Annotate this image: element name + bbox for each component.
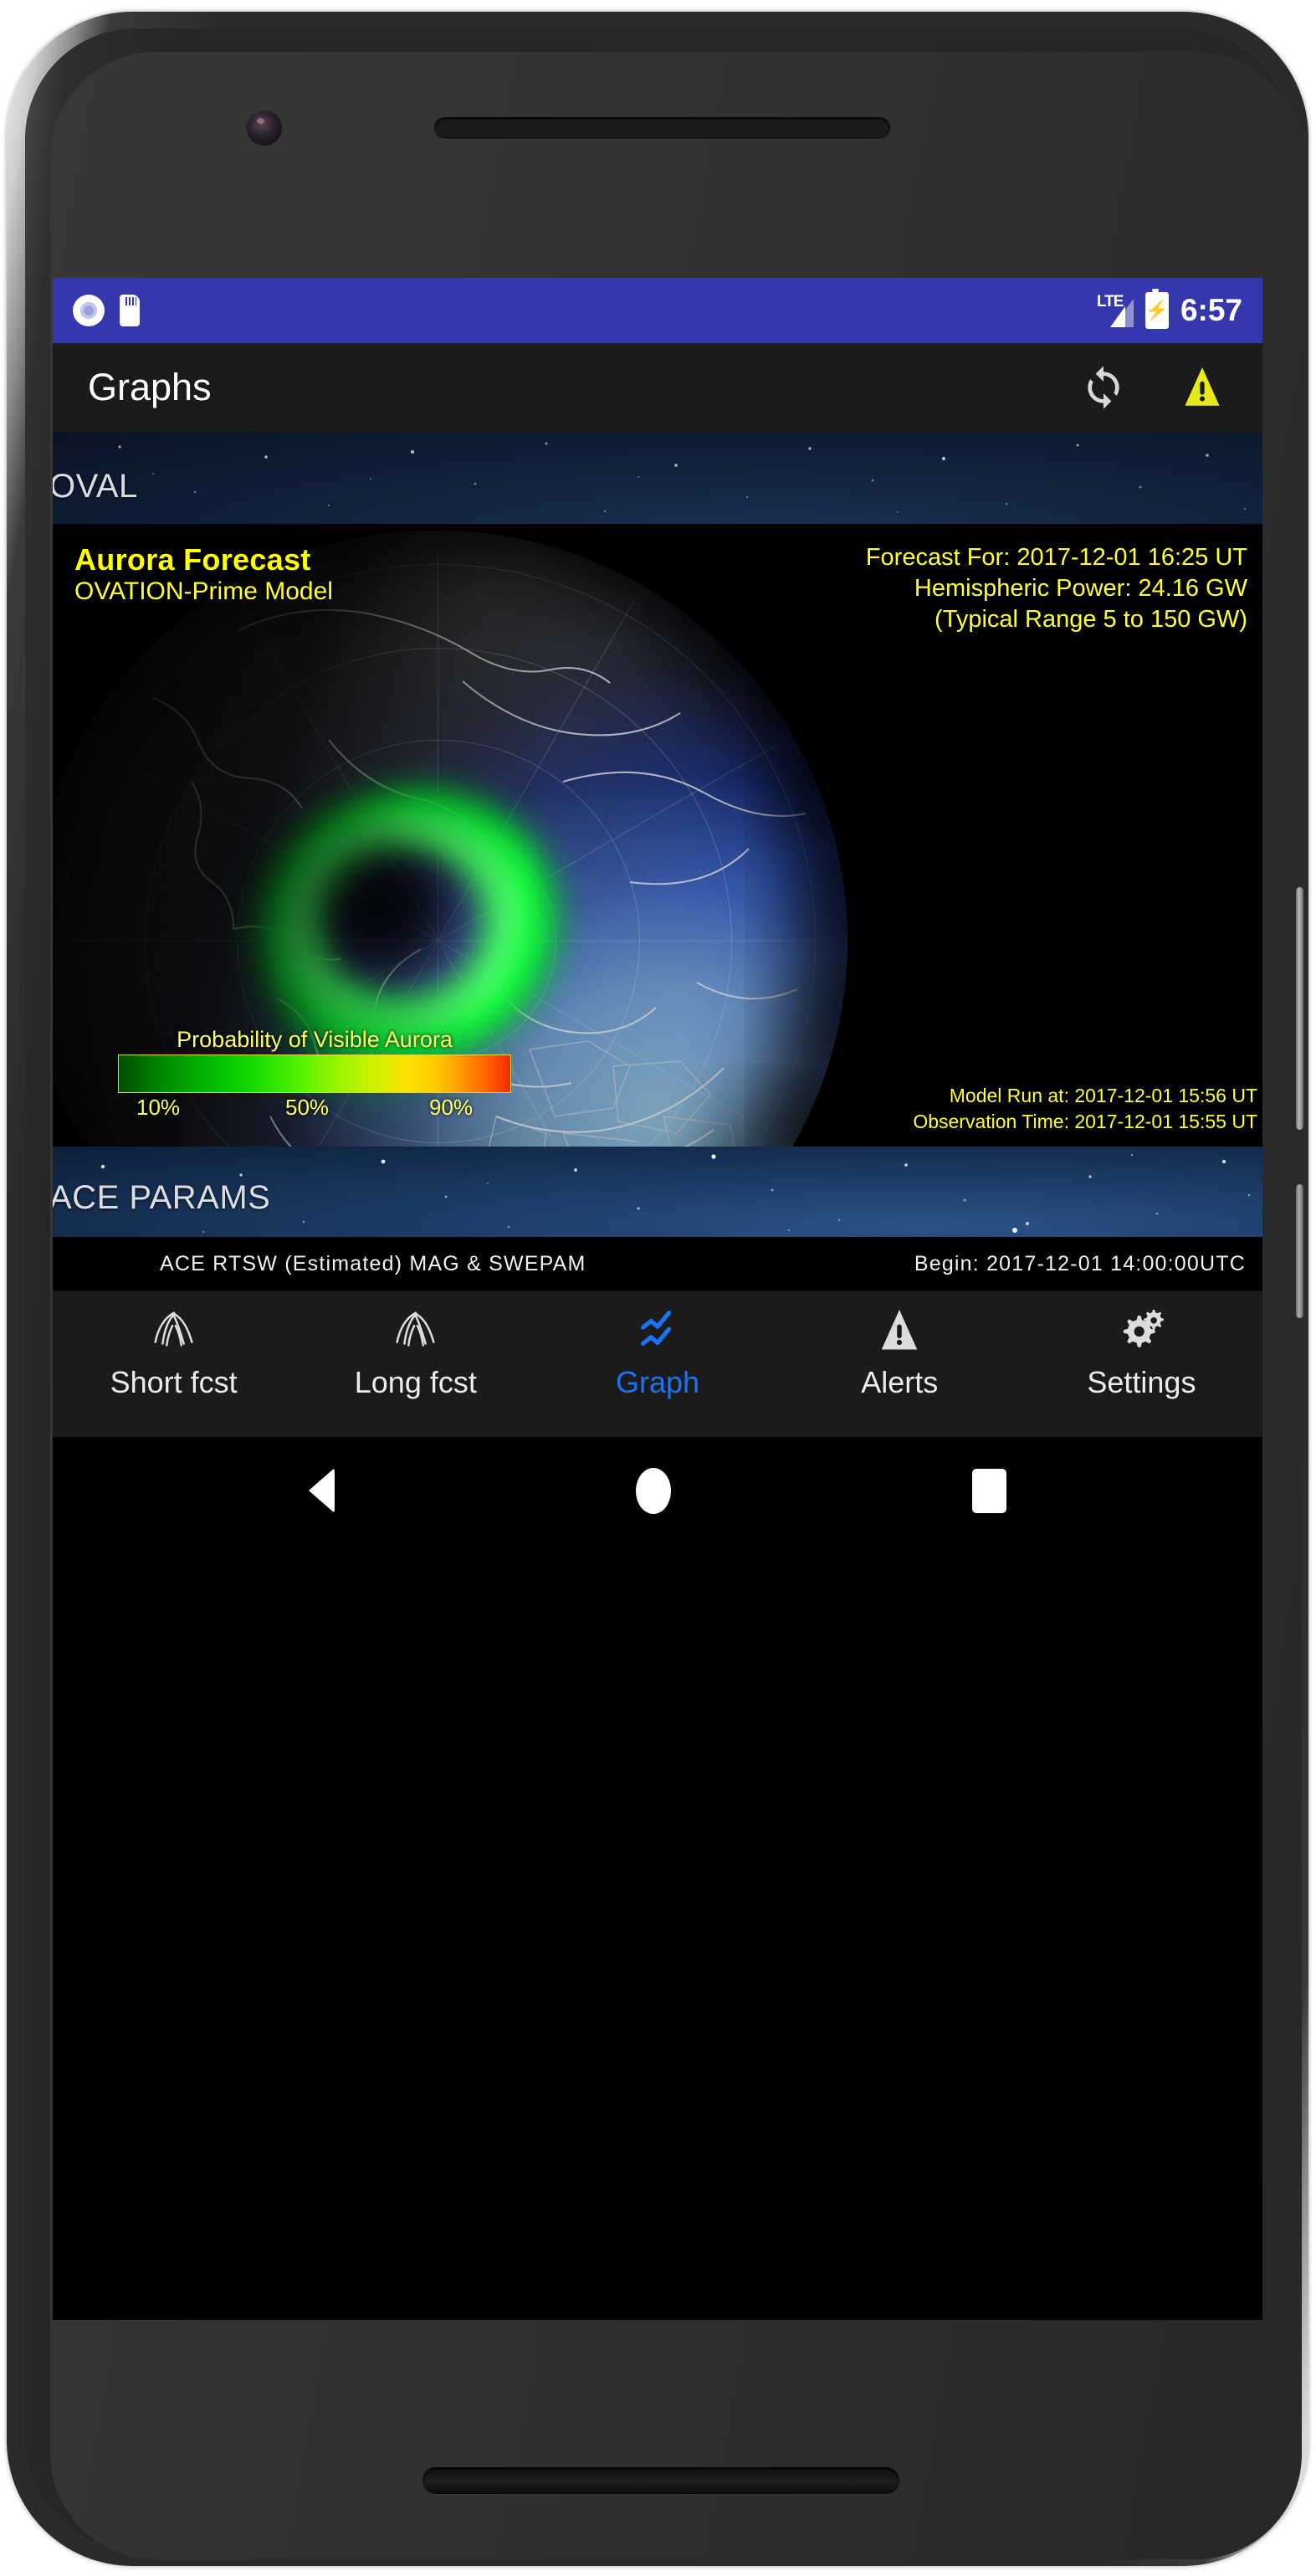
aurora-icon: [390, 1303, 442, 1358]
model-run-text: Model Run at: 2017-12-01 15:56 UT: [913, 1083, 1257, 1109]
tab-alerts[interactable]: Alerts: [779, 1291, 1021, 1400]
ace-chart-header[interactable]: ACE RTSW (Estimated) MAG & SWEPAM Begin:…: [53, 1237, 1262, 1291]
tab-label-settings: Settings: [1087, 1365, 1196, 1400]
tab-label-long-fcst: Long fcst: [355, 1365, 477, 1400]
warning-icon[interactable]: [1177, 362, 1227, 413]
volume-button[interactable]: [1296, 887, 1303, 1130]
bottom-tab-bar: Short fcst Long fcst: [53, 1291, 1262, 1437]
page-title: Graphs: [88, 366, 212, 409]
legend-tick-50: 50%: [285, 1095, 329, 1121]
battery-charging-icon: ⚡: [1145, 292, 1169, 329]
legend-title: Probability of Visible Aurora: [118, 1027, 511, 1053]
refresh-icon[interactable]: [1078, 362, 1129, 413]
app-bar-actions: [1078, 362, 1227, 413]
legend-tick-10: 10%: [136, 1095, 180, 1121]
section-header-oval[interactable]: OVAL: [53, 432, 1262, 524]
bottom-speaker: [422, 2467, 899, 2494]
tab-label-graph: Graph: [616, 1365, 699, 1400]
gear-icon: [1114, 1303, 1168, 1358]
tab-graph[interactable]: Graph: [536, 1291, 778, 1400]
screenshot-root: LTE ⚡ 6:57 Graphs: [0, 0, 1316, 2576]
legend-ticks: 10% 50% 90%: [118, 1095, 511, 1123]
lte-signal-icon: LTE: [1097, 294, 1134, 327]
aurora-icon: [148, 1303, 200, 1358]
recents-button[interactable]: [972, 1469, 1006, 1513]
ace-begin-text: Begin: 2017-12-01 14:00:00UTC: [914, 1252, 1246, 1276]
legend-tick-90: 90%: [429, 1095, 473, 1121]
tab-label-short-fcst: Short fcst: [110, 1365, 238, 1400]
aurora-subtitle: OVATION-Prime Model: [74, 577, 333, 606]
typical-range-text: (Typical Range 5 to 150 GW): [866, 604, 1247, 635]
status-bar-right: LTE ⚡ 6:57: [1097, 292, 1242, 329]
sd-card-icon: [120, 295, 140, 326]
tab-long-fcst[interactable]: Long fcst: [294, 1291, 536, 1400]
hemispheric-power-text: Hemispheric Power: 24.16 GW: [866, 573, 1247, 604]
tab-short-fcst[interactable]: Short fcst: [53, 1291, 294, 1400]
legend-colorbar: [118, 1055, 511, 1093]
back-button[interactable]: [309, 1468, 335, 1513]
warning-icon: [874, 1303, 924, 1358]
aurora-title: Aurora Forecast: [74, 542, 311, 577]
aurora-run-info: Model Run at: 2017-12-01 15:56 UT Observ…: [913, 1083, 1257, 1135]
signal-bars-fg: [1110, 306, 1125, 327]
chart-line-icon: [632, 1303, 684, 1358]
status-bar: LTE ⚡ 6:57: [53, 278, 1262, 343]
forecast-for-text: Forecast For: 2017-12-01 16:25 UT: [866, 542, 1247, 573]
earpiece-speaker: [434, 117, 890, 139]
status-bar-left: [73, 295, 140, 326]
status-bar-clock: 6:57: [1180, 293, 1242, 328]
phone-screen: LTE ⚡ 6:57 Graphs: [53, 278, 1262, 2320]
starfield-decoration: [53, 432, 1262, 524]
home-button[interactable]: [636, 1468, 671, 1514]
section-header-ace-params[interactable]: ACE PARAMS: [53, 1147, 1262, 1237]
android-nav-bar: [53, 1437, 1262, 1544]
observation-time-text: Observation Time: 2017-12-01 15:55 UT: [913, 1109, 1257, 1135]
section-label-ace-params: ACE PARAMS: [53, 1179, 270, 1217]
section-label-oval: OVAL: [53, 468, 138, 505]
front-camera: [247, 110, 282, 146]
power-button[interactable]: [1296, 1184, 1303, 1318]
app-bar: Graphs: [53, 343, 1262, 432]
tab-label-alerts: Alerts: [861, 1365, 938, 1400]
tab-settings[interactable]: Settings: [1021, 1291, 1262, 1400]
ace-source-text: ACE RTSW (Estimated) MAG & SWEPAM: [160, 1252, 586, 1276]
probability-legend: Probability of Visible Aurora 10% 50% 90…: [118, 1027, 511, 1123]
aurora-forecast-info: Forecast For: 2017-12-01 16:25 UT Hemisp…: [866, 542, 1247, 635]
record-icon: [73, 295, 105, 326]
aurora-forecast-image[interactable]: Aurora Forecast OVATION-Prime Model Fore…: [53, 524, 1262, 1147]
